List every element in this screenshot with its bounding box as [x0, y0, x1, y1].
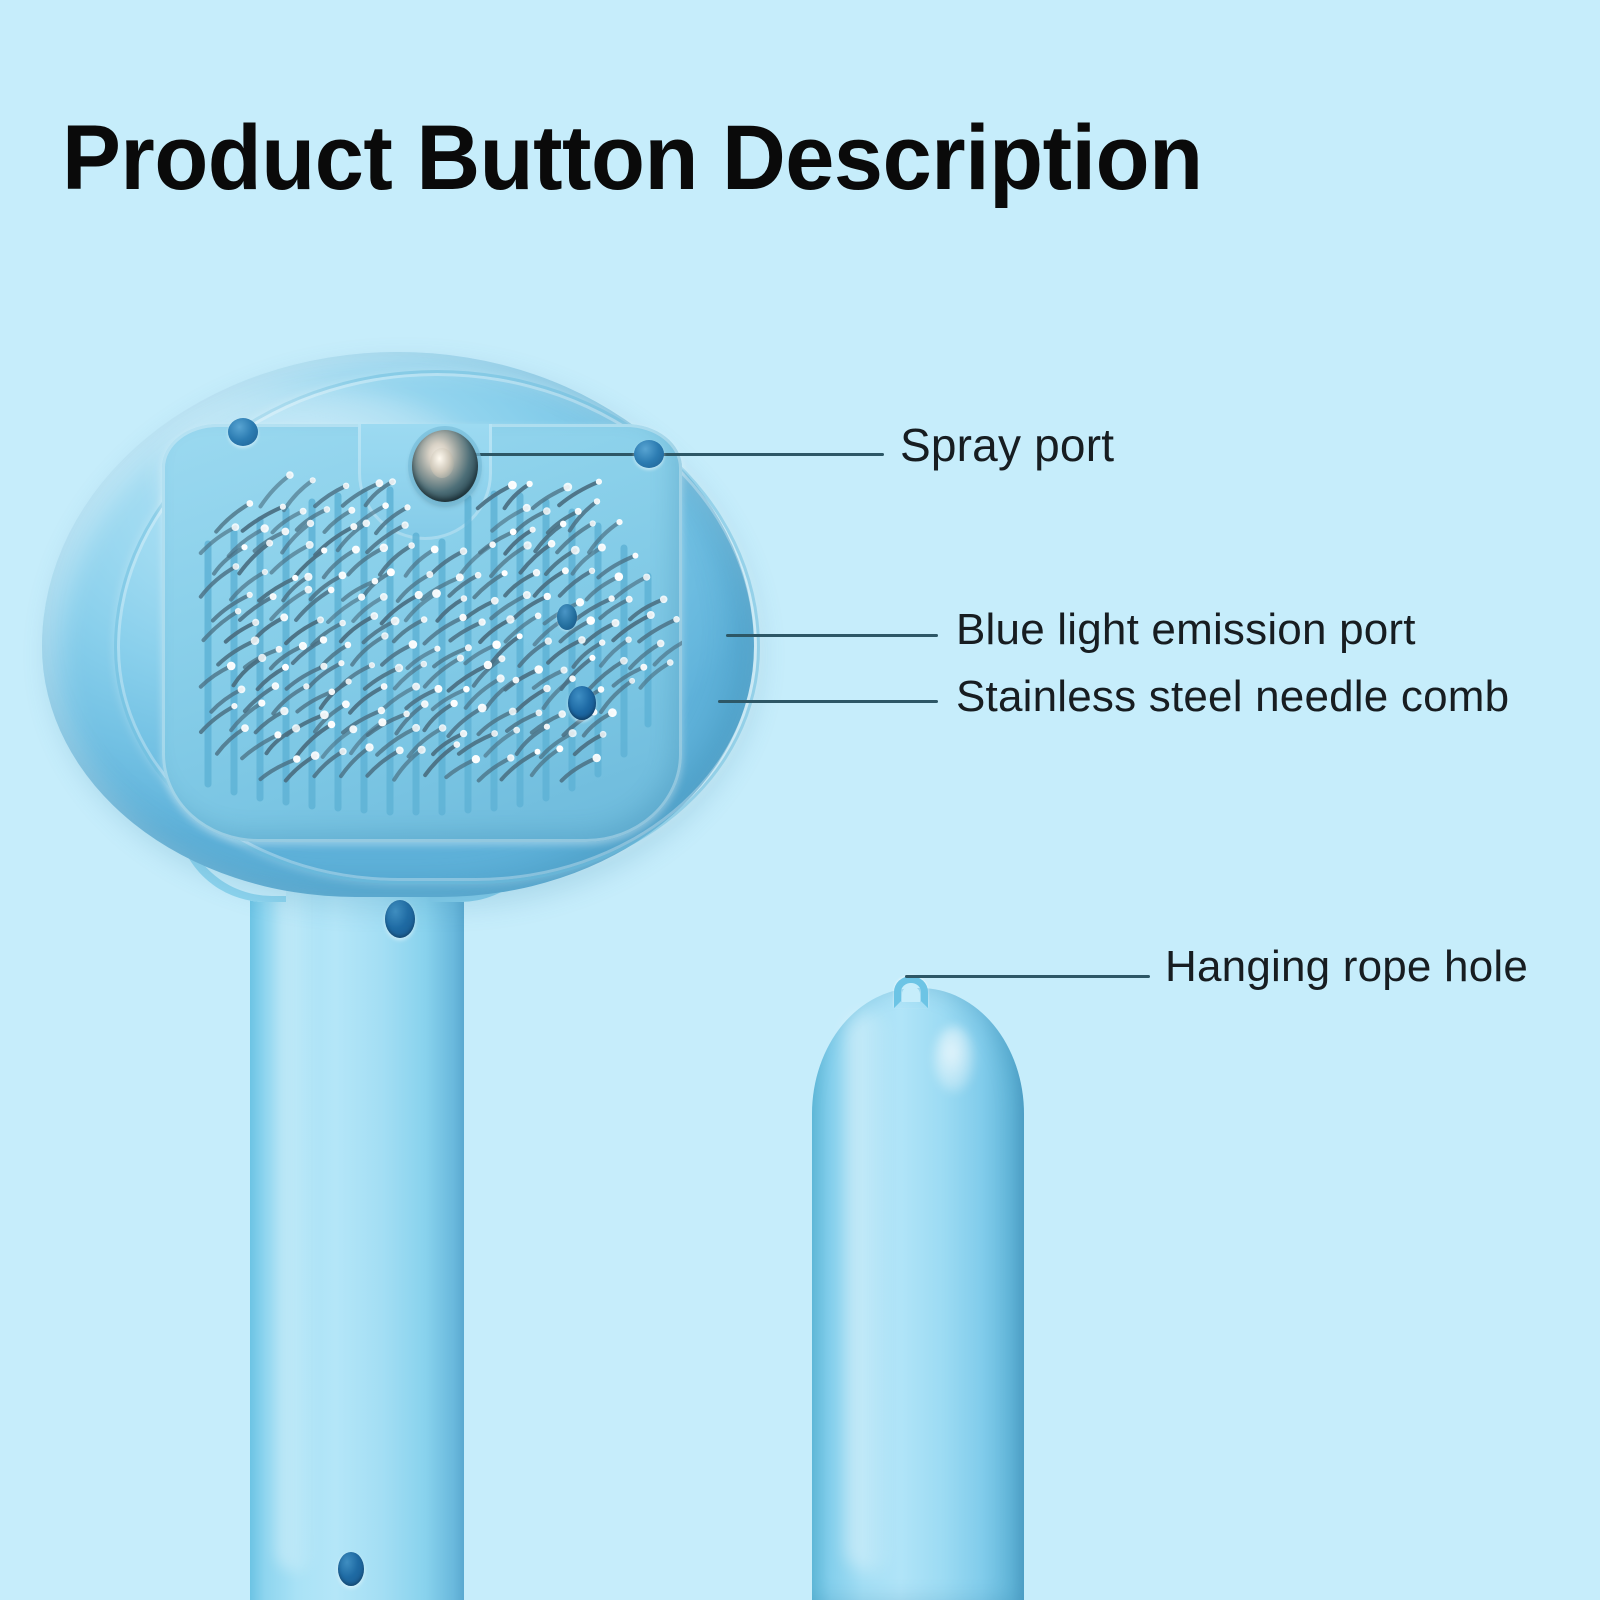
handle-port-upper-icon — [385, 900, 415, 938]
leader-line-rope-hole — [905, 975, 1150, 978]
product-handle-end-image — [806, 960, 1036, 1600]
blue-light-emission-port-icon — [568, 686, 596, 720]
head-dot-right-icon — [634, 440, 664, 468]
hanging-rope-hole-aperture — [902, 986, 920, 1002]
pad-vent-icon — [557, 604, 577, 630]
callout-label-spray-port: Spray port — [900, 418, 1114, 472]
callout-label-blue-light-emission-port: Blue light emission port — [956, 605, 1416, 655]
handle-port-lower-icon — [338, 1552, 364, 1586]
handle-end-highlight — [934, 1026, 974, 1092]
product-handle — [250, 800, 464, 1600]
spray-port-icon — [412, 430, 478, 502]
handle-end-gloss — [846, 1012, 892, 1572]
product-brush-image — [0, 330, 840, 1600]
leader-line-needle-comb — [718, 700, 938, 703]
leader-line-blue-light — [726, 634, 938, 637]
infographic-canvas: Product Button Description — [0, 0, 1600, 1600]
handle-end-body — [812, 988, 1024, 1600]
head-dot-left-icon — [228, 418, 258, 446]
callout-label-stainless-steel-needle-comb: Stainless steel needle comb — [956, 672, 1509, 722]
page-title: Product Button Description — [62, 104, 1483, 212]
callout-label-hanging-rope-hole: Hanging rope hole — [1165, 942, 1528, 992]
brush-head — [42, 352, 754, 897]
